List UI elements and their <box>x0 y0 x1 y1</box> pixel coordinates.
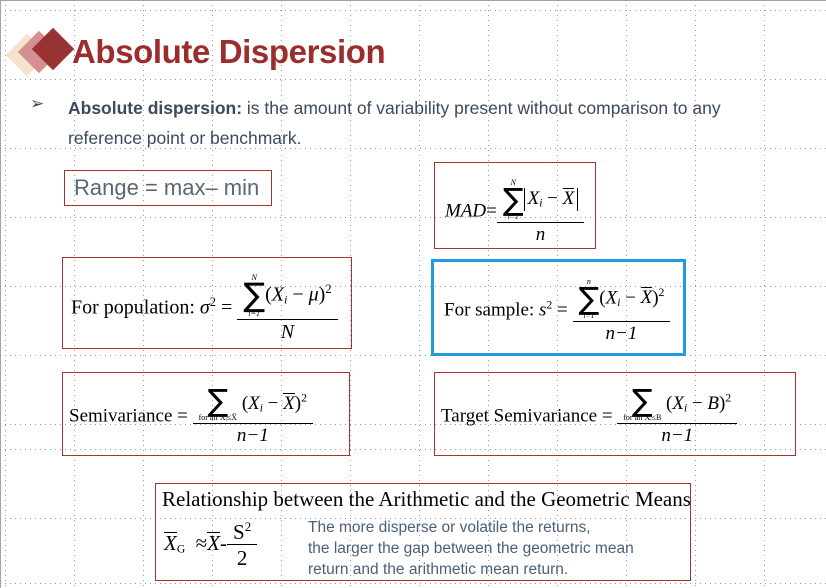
population-variance-box[interactable]: For population: σ2 = N∑i=1(Xi − μ)2N <box>62 257 352 349</box>
range-formula-text: Range = max– min <box>74 175 259 201</box>
sample-symbol-power: 2 <box>546 298 552 311</box>
guide-line-vertical <box>764 0 765 588</box>
population-label: For population: <box>71 297 195 319</box>
target-semivariance-fraction: ∑for all Xᵢ≤B (Xi − B)2n−1 <box>617 387 737 447</box>
summation-icon: N∑i=1 <box>503 179 524 221</box>
population-equals: = <box>221 297 232 319</box>
sample-fraction: n∑i=1(Xi − X)2n−1 <box>573 278 671 345</box>
mad-fraction: N∑i=1Xi − Xn <box>497 179 584 246</box>
sigma-glyph: ∑ <box>579 285 600 313</box>
semivariance-label: Semivariance <box>69 405 172 426</box>
sum-condition: for all Xᵢ≤B <box>623 414 661 422</box>
range-formula-box[interactable]: Range = max– min <box>64 170 272 206</box>
sample-denominator: n−1 <box>573 322 671 345</box>
variance-numerator: S2 <box>227 520 257 545</box>
sigma-glyph: ∑ <box>623 387 661 415</box>
summation-icon: ∑for all Xᵢ≤X̄ <box>199 387 237 422</box>
population-symbol: σ <box>200 297 210 319</box>
sum-condition: for all Xᵢ≤X̄ <box>199 414 237 422</box>
summation-icon: n∑i=1 <box>579 278 600 320</box>
target-semivariance-denominator: n−1 <box>617 424 737 447</box>
relationship-formula: XG ≈X-S22 <box>164 520 257 570</box>
abs-value-group: Xi − X <box>524 188 579 210</box>
two-denominator: 2 <box>227 545 257 570</box>
bullet-item: ➢ Absolute dispersion: is the amount of … <box>30 93 730 153</box>
population-variance-formula: For population: σ2 = N∑i=1(Xi − μ)2N <box>71 274 338 344</box>
sigma-glyph: ∑ <box>199 387 237 415</box>
population-fraction: N∑i=1(Xi − μ)2N <box>237 274 337 344</box>
diamond-cluster-logo <box>10 32 78 80</box>
bullet-arrow-icon: ➢ <box>30 95 44 112</box>
guide-line-horizontal <box>0 355 826 356</box>
sample-label: For sample: <box>444 300 534 321</box>
relationship-note: The more disperse or volatile the return… <box>308 517 688 580</box>
guide-line-horizontal <box>0 217 826 218</box>
population-numerator: N∑i=1(Xi − μ)2 <box>237 274 337 320</box>
target-semivariance-label: Target Semivariance <box>441 405 597 426</box>
target-semivariance-box[interactable]: Target Semivariance = ∑for all Xᵢ≤B (Xi … <box>434 372 796 456</box>
target-semivariance-numerator: ∑for all Xᵢ≤B (Xi − B)2 <box>617 387 737 424</box>
semivariance-formula: Semivariance = ∑for all Xᵢ≤X̄ (Xi − X)2n… <box>69 387 313 447</box>
summation-icon: N∑i=1 <box>243 274 265 318</box>
sample-numerator: n∑i=1(Xi − X)2 <box>573 278 671 322</box>
mad-formula-box[interactable]: MAD=N∑i=1Xi − Xn <box>434 162 596 249</box>
mad-denominator: n <box>497 223 584 246</box>
approx-sign: ≈ <box>196 531 208 555</box>
sigma-glyph: ∑ <box>243 281 265 311</box>
population-symbol-power: 2 <box>210 295 216 309</box>
relationship-title: Relationship between the Arithmetic and … <box>162 487 691 512</box>
semivariance-box[interactable]: Semivariance = ∑for all Xᵢ≤X̄ (Xi − X)2n… <box>62 372 350 456</box>
relationship-note-line-2: the larger the gap between the geometric… <box>308 538 688 559</box>
guide-line-horizontal <box>0 10 826 11</box>
semivariance-equals: = <box>177 405 188 426</box>
mad-formula: MAD=N∑i=1Xi − Xn <box>445 179 584 246</box>
arithmetic-mean-symbol: X <box>207 532 220 554</box>
relationship-note-line-3: return and the arithmetic mean return. <box>308 559 688 580</box>
target-semivariance-formula: Target Semivariance = ∑for all Xᵢ≤B (Xi … <box>441 387 737 447</box>
page-title: Absolute Dispersion <box>72 33 385 71</box>
semivariance-fraction: ∑for all Xᵢ≤X̄ (Xi − X)2n−1 <box>193 387 313 447</box>
guide-line-horizontal <box>0 79 826 80</box>
summation-icon: ∑for all Xᵢ≤B <box>623 387 661 422</box>
population-denominator: N <box>237 320 337 344</box>
target-semivariance-equals: = <box>602 405 613 426</box>
mad-numerator: N∑i=1Xi − X <box>497 179 584 223</box>
semivariance-denominator: n−1 <box>193 424 313 447</box>
sigma-glyph: ∑ <box>503 186 524 214</box>
relationship-box[interactable]: Relationship between the Arithmetic and … <box>155 483 691 581</box>
sample-variance-box-selected[interactable]: For sample: s2 = n∑i=1(Xi − X)2n−1 <box>431 259 686 356</box>
sample-equals: = <box>557 300 568 321</box>
variance-over-two-fraction: S22 <box>227 520 257 570</box>
slide-canvas: Absolute Dispersion ➢ Absolute dispersio… <box>0 0 826 588</box>
bullet-lead: Absolute dispersion: <box>68 98 242 118</box>
guide-line-horizontal <box>0 583 826 584</box>
semivariance-numerator: ∑for all Xᵢ≤X̄ (Xi − X)2 <box>193 387 313 424</box>
guide-line-vertical <box>695 0 696 588</box>
guide-line-vertical <box>5 0 6 588</box>
sample-variance-formula: For sample: s2 = n∑i=1(Xi − X)2n−1 <box>444 278 670 345</box>
relationship-note-line-1: The more disperse or volatile the return… <box>308 517 688 538</box>
geometric-mean-symbol: X <box>164 532 177 554</box>
mad-lhs: MAD <box>445 201 486 222</box>
mad-equals: = <box>486 201 497 222</box>
bullet-text: Absolute dispersion: is the amount of va… <box>68 93 730 153</box>
